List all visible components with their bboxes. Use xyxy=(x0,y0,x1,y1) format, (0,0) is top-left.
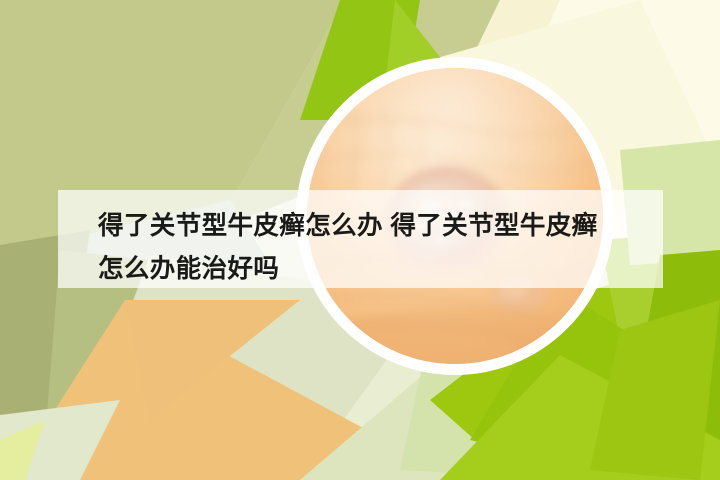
caption-line-1: 得了关节型牛皮癣怎么办 得了关节型牛皮癣 xyxy=(98,212,598,240)
caption-line-2: 怎么办能治好吗 xyxy=(98,255,279,283)
thumbnail-canvas: 得了关节型牛皮癣怎么办 得了关节型牛皮癣怎么办能治好吗 xyxy=(0,0,720,480)
page-title: 得了关节型牛皮癣怎么办 得了关节型牛皮癣怎么办能治好吗 xyxy=(98,205,643,291)
